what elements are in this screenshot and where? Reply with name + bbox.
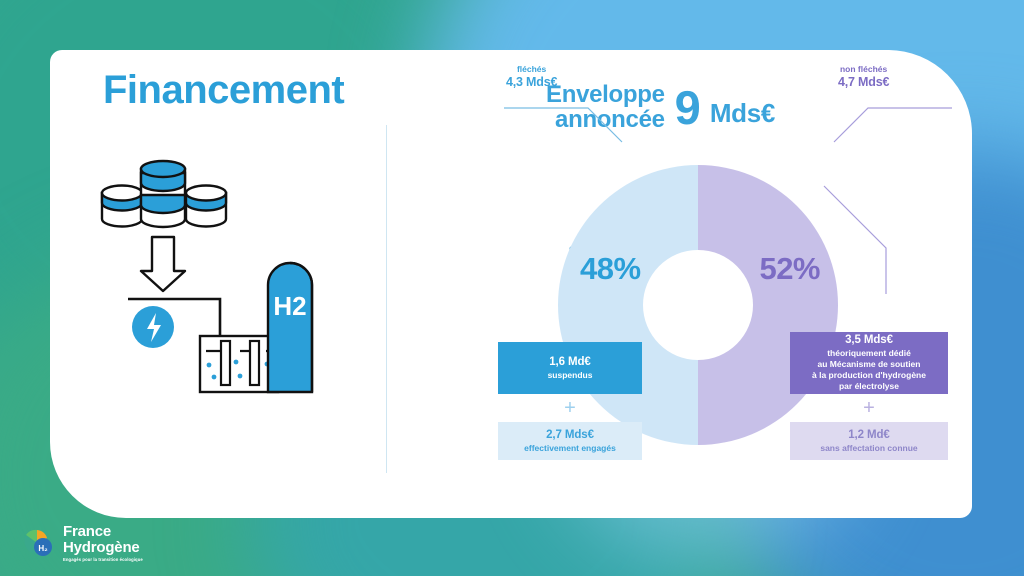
donut-chart: 48% 52% bbox=[558, 165, 838, 445]
box-mecanisme-soutien: 3,5 Mds€ théoriquement dédié au Mécanism… bbox=[790, 332, 948, 394]
enveloppe-amount: 9 bbox=[675, 84, 700, 131]
box-engages-amount: 2,7 Mds€ bbox=[506, 429, 634, 441]
down-arrow-icon bbox=[141, 237, 185, 291]
callout-fleches-label: fléchés bbox=[506, 64, 557, 75]
donut-percent-fleches: 48% bbox=[580, 251, 641, 287]
box-mecanisme-amount: 3,5 Mds€ bbox=[798, 334, 940, 346]
logo-mark-icon: H₂ bbox=[22, 526, 56, 560]
h2-label: H2 bbox=[273, 291, 306, 321]
enveloppe-unit: Mds€ bbox=[710, 98, 775, 133]
box-mecanisme-desc-line4: par électrolyse bbox=[798, 381, 940, 392]
page-title: Financement bbox=[103, 68, 344, 113]
electrolyzer-icon bbox=[200, 336, 278, 392]
illustration-svg: H2 bbox=[90, 155, 350, 405]
callout-fleches: fléchés 4,3 Mds€ bbox=[506, 64, 557, 90]
lightning-bolt-icon bbox=[132, 306, 174, 348]
box-sans-affectation-amount: 1,2 Md€ bbox=[798, 429, 940, 441]
content-card: Financement bbox=[50, 50, 972, 518]
connector-right bbox=[824, 108, 952, 294]
callout-non-fleches-label: non fléchés bbox=[838, 64, 889, 75]
plus-sign-left: + bbox=[550, 398, 590, 418]
france-hydrogene-logo: H₂ France Hydrogène Engagés pour la tran… bbox=[22, 524, 143, 562]
box-suspendus: 1,6 Md€ suspendus bbox=[498, 342, 642, 394]
logo-tagline: Engagés pour la transition écologique bbox=[63, 558, 143, 562]
logo-mark-label: H₂ bbox=[38, 544, 48, 553]
callout-non-fleches-amount: 4,7 Mds€ bbox=[838, 75, 889, 91]
financement-illustration: H2 bbox=[90, 155, 350, 405]
enveloppe-header: Enveloppe annoncée 9 Mds€ bbox=[546, 82, 775, 133]
logo-text: France Hydrogène Engagés pour la transit… bbox=[63, 524, 143, 562]
box-mecanisme-desc-line1: théoriquement dédié bbox=[798, 348, 940, 359]
box-sans-affectation-desc: sans affectation connue bbox=[798, 443, 940, 454]
box-sans-affectation: 1,2 Md€ sans affectation connue bbox=[790, 422, 948, 460]
enveloppe-label: Enveloppe annoncée bbox=[546, 82, 665, 133]
enveloppe-label-line1: Enveloppe bbox=[546, 82, 665, 107]
coin-stacks-icon bbox=[102, 161, 226, 227]
enveloppe-label-line2: annoncée bbox=[546, 107, 665, 132]
logo-name-line1: France bbox=[63, 524, 143, 539]
box-effectivement-engages: 2,7 Mds€ effectivement engagés bbox=[498, 422, 642, 460]
chart-area: Enveloppe annoncée 9 Mds€ fléchés 4,3 Md… bbox=[386, 50, 972, 518]
donut-percent-non-fleches: 52% bbox=[759, 251, 820, 287]
box-suspendus-desc: suspendus bbox=[506, 370, 634, 381]
hydrogen-tank-icon: H2 bbox=[268, 263, 312, 392]
box-mecanisme-desc-line3: à la production d'hydrogène bbox=[798, 370, 940, 381]
callout-fleches-amount: 4,3 Mds€ bbox=[506, 75, 557, 91]
box-mecanisme-desc-line2: au Mécanisme de soutien bbox=[798, 359, 940, 370]
box-suspendus-amount: 1,6 Md€ bbox=[506, 356, 634, 368]
box-mecanisme-desc: théoriquement dédié au Mécanisme de sout… bbox=[798, 348, 940, 392]
callout-non-fleches: non fléchés 4,7 Mds€ bbox=[838, 64, 889, 90]
donut-hole bbox=[643, 250, 753, 360]
box-engages-desc: effectivement engagés bbox=[506, 443, 634, 454]
logo-name-line2: Hydrogène bbox=[63, 540, 143, 555]
plus-sign-right: + bbox=[849, 398, 889, 418]
